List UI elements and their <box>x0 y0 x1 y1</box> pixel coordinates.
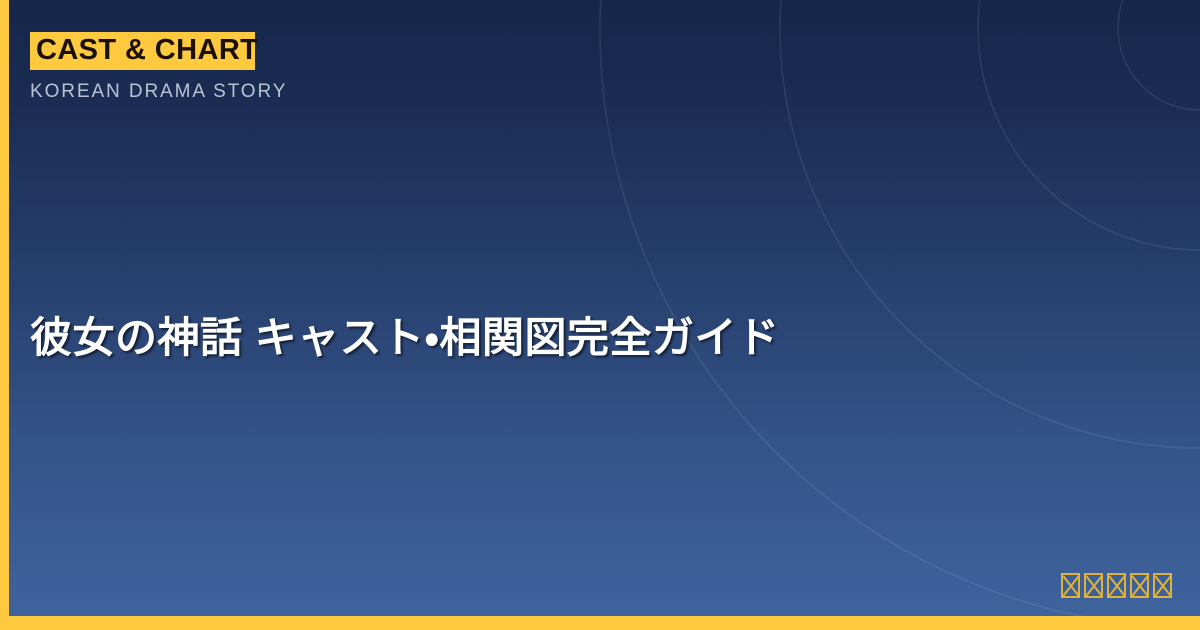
bottom-accent-bar <box>0 616 1200 630</box>
banner-card: CAST & CHART KOREAN DRAMA STORY 彼女の神話 キャ… <box>0 0 1200 630</box>
subkicker-label: KOREAN DRAMA STORY <box>30 81 287 103</box>
missing-glyph-box <box>1061 573 1080 598</box>
missing-glyph-box <box>1107 573 1126 598</box>
missing-glyph-box <box>1084 573 1103 598</box>
page-title: 彼女の神話 キャスト・相関図完全ガイド <box>30 310 1130 367</box>
arc-ring-3 <box>780 0 1200 448</box>
kicker-label: CAST & CHART <box>30 30 264 70</box>
kicker-badge: CAST & CHART <box>30 30 287 70</box>
arc-ring-1 <box>1118 0 1200 110</box>
header-block: CAST & CHART KOREAN DRAMA STORY <box>30 30 287 103</box>
left-accent-bar <box>0 0 9 630</box>
missing-glyph-box <box>1153 573 1172 598</box>
site-mark <box>1061 573 1172 598</box>
missing-glyph-box <box>1130 573 1149 598</box>
arc-ring-2 <box>978 0 1200 250</box>
